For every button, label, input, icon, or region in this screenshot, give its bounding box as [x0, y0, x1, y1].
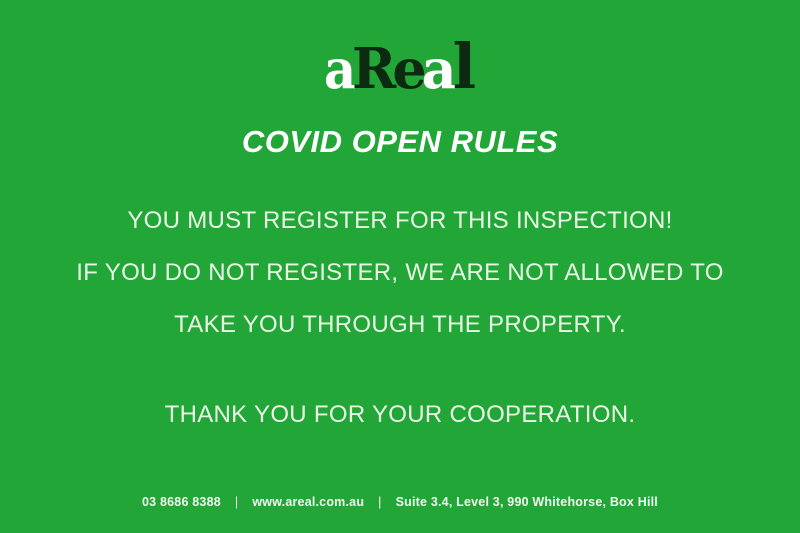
footer-separator-2: |: [364, 495, 395, 509]
body-text-block: YOU MUST REGISTER FOR THIS INSPECTION! I…: [0, 195, 800, 441]
logo-letter-a-second: a: [422, 42, 454, 96]
logo-letter-e: e: [392, 42, 423, 96]
footer-website[interactable]: www.areal.com.au: [252, 495, 364, 509]
body-line-4: THANK YOU FOR YOUR COOPERATION.: [0, 389, 800, 441]
footer-phone: 03 8686 8388: [142, 495, 221, 509]
covid-open-rules-poster: aReal COVID OPEN RULES YOU MUST REGISTER…: [0, 0, 800, 533]
body-line-2: IF YOU DO NOT REGISTER, WE ARE NOT ALLOW…: [0, 247, 800, 299]
logo-letter-r: R: [352, 41, 392, 97]
logo-letter-l: l: [453, 36, 477, 98]
footer-address: Suite 3.4, Level 3, 990 Whitehorse, Box …: [396, 495, 658, 509]
footer-separator-1: |: [221, 495, 252, 509]
logo-letter-a-first: a: [324, 42, 353, 96]
body-line-3: TAKE YOU THROUGH THE PROPERTY.: [0, 299, 800, 351]
footer-contact-bar: 03 8686 8388|www.areal.com.au|Suite 3.4,…: [0, 495, 800, 509]
body-line-1: YOU MUST REGISTER FOR THIS INSPECTION!: [0, 195, 800, 247]
areal-logo: aReal: [324, 36, 476, 102]
page-title: COVID OPEN RULES: [242, 126, 558, 157]
